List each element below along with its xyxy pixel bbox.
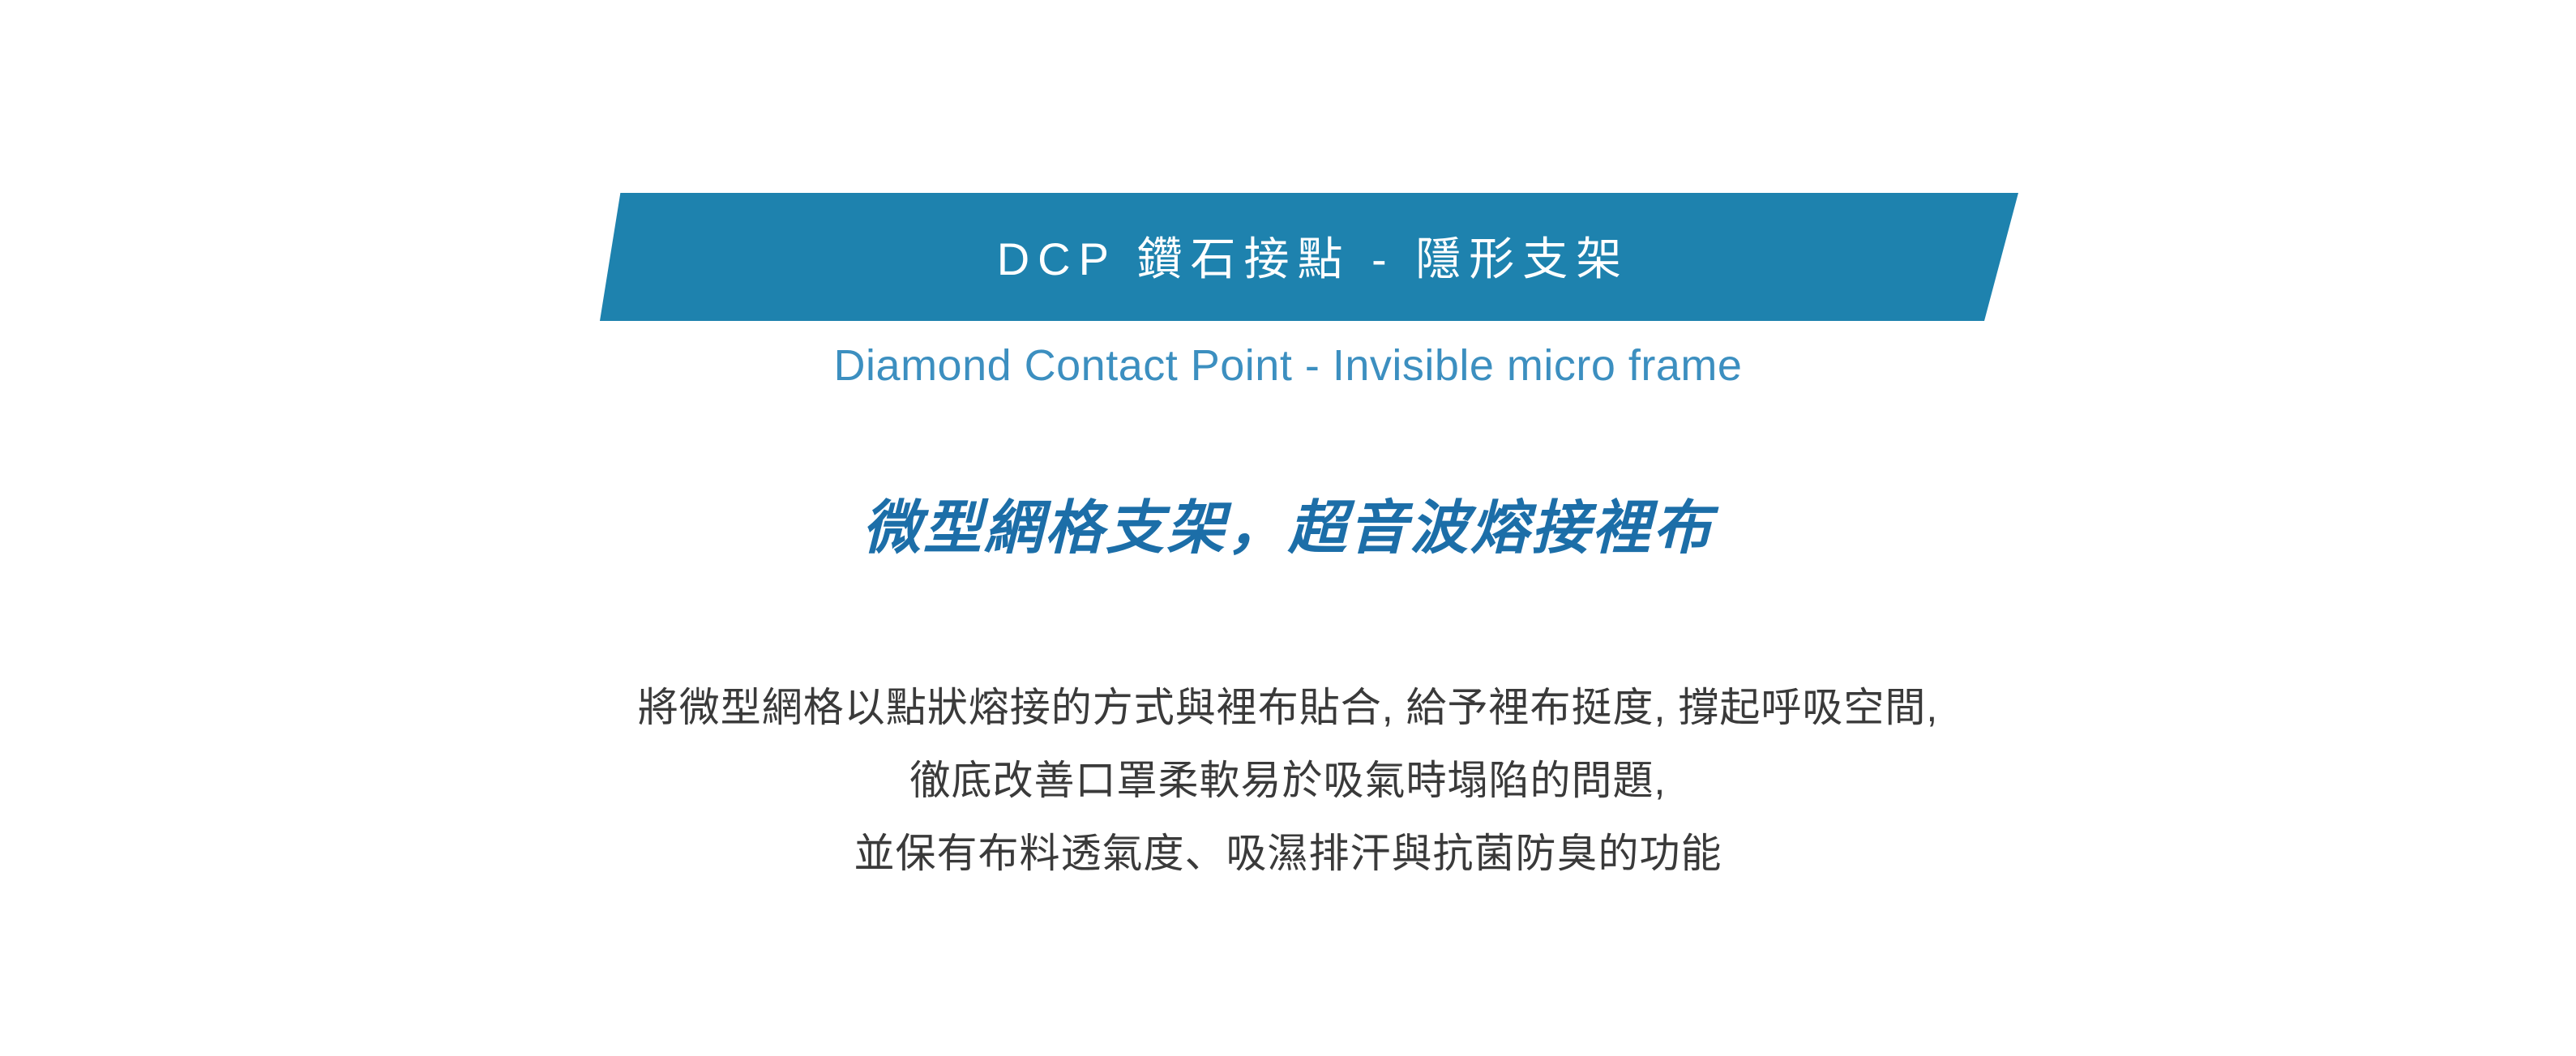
banner-title: DCP 鑽石接點 - 隱形支架 [600,193,2018,321]
body-line-2: 徹底改善口罩柔軟易於吸氣時塌陷的問題, [0,744,2576,817]
english-subtitle: Diamond Contact Point - Invisible micro … [0,340,2576,391]
feature-headline: 微型網格支架，超音波熔接裡布 [0,480,2576,565]
body-line-3: 並保有布料透氣度、吸濕排汗與抗菌防臭的功能 [0,817,2576,890]
body-paragraph: 將微型網格以點狀熔接的方式與裡布貼合, 給予裡布挺度, 撐起呼吸空間, 徹底改善… [0,671,2576,890]
body-line-1: 將微型網格以點狀熔接的方式與裡布貼合, 給予裡布挺度, 撐起呼吸空間, [0,671,2576,744]
page-root: { "banner": { "title": "DCP 鑽石接點 - 隱形支架"… [0,0,2576,1056]
section-banner: DCP 鑽石接點 - 隱形支架 [600,193,2018,321]
